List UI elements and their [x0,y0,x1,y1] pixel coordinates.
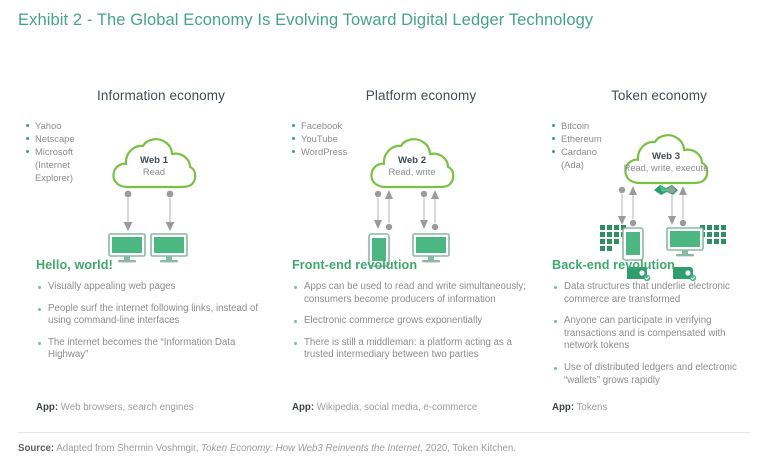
brand-item: Ethereum [550,132,630,145]
brand-item-cont: Explorer) [24,171,104,184]
column-header: Information economy [22,88,270,103]
list-item: Use of distributed ledgers and electroni… [552,362,760,387]
cloud-title: Web 2 [398,154,426,167]
summary-platform-economy: Front-end revolution Apps can be used to… [292,258,540,371]
brand-item: Microsoft [24,145,104,158]
brand-item: YouTube [290,132,370,145]
brand-list: Bitcoin Ethereum Cardano (Ada) [550,119,630,171]
brand-item-cont: (Internet [24,158,104,171]
app-line: App: Tokens [552,402,607,413]
brand-item: Cardano [550,145,630,158]
list-item: Apps can be used to read and write simul… [292,281,540,306]
diagram-information-economy: Yahoo Netscape Microsoft (Internet Explo… [22,115,270,275]
column-platform-economy: Platform economy Facebook YouTube WordPr… [288,88,536,275]
exhibit-page: Exhibit 2 - The Global Economy Is Evolvi… [0,0,768,474]
column-information-economy: Information economy Yahoo Netscape Micro… [22,88,270,275]
column-token-economy: Token economy Bitcoin Ethereum Cardano (… [548,88,760,275]
diagram-platform-economy: Facebook YouTube WordPress Web 2 Read, w… [288,115,536,275]
app-value: Wikipedia, social media, e-commerce [317,402,477,413]
page-title: Exhibit 2 - The Global Economy Is Evolvi… [18,8,718,33]
brand-item: WordPress [290,145,370,158]
section-heading: Hello, world! [36,258,268,272]
list-item: There is still a middleman: a platform a… [292,337,540,362]
source-prefix: Adapted from Shermin Voshmgir, [56,443,198,454]
source-note: Source: Adapted from Shermin Voshmgir, T… [18,443,516,454]
cloud-web2: Web 2 Read, write [366,137,458,193]
point-list: Data structures that underlie electronic… [552,281,760,387]
column-header: Platform economy [288,88,536,103]
app-line: App: Web browsers, search engines [36,402,194,413]
diagram-token-economy: Bitcoin Ethereum Cardano (Ada) Web 3 Rea… [548,115,760,275]
app-value: Web browsers, search engines [61,402,194,413]
list-item: The internet becomes the “Information Da… [36,337,268,362]
list-item: Anyone can participate in verifying tran… [552,315,760,353]
section-heading: Front-end revolution [292,258,540,272]
brand-item: Yahoo [24,119,104,132]
cloud-subtitle: Read, write [388,167,435,179]
cloud-title: Web 3 [652,150,680,163]
source-label: Source: [18,443,54,454]
brand-item: Facebook [290,119,370,132]
cloud-subtitle: Read, write, execute [624,163,709,175]
section-heading: Back-end revolution [552,258,760,272]
cloud-web1: Web 1 Read [108,137,200,193]
flow-arrows-oneway [118,189,198,235]
summary-information-economy: Hello, world! Visually appealing web pag… [36,258,268,371]
app-line: App: Wikipedia, social media, e-commerce [292,402,477,413]
list-item: Visually appealing web pages [36,281,268,294]
app-label: App: [552,402,574,413]
brand-item: Netscape [24,132,104,145]
cloud-subtitle: Read [143,167,165,179]
app-label: App: [36,402,58,413]
summary-token-economy: Back-end revolution Data structures that… [552,258,760,396]
flow-arrows-twoway [372,189,462,235]
device-phone [622,227,644,261]
app-value: Tokens [577,402,608,413]
app-label: App: [292,402,314,413]
blockchain-blocks-icon [700,225,734,255]
device-monitor [666,227,704,257]
column-header: Token economy [548,88,760,103]
point-list: Visually appealing web pages People surf… [36,281,268,362]
list-item: Electronic commerce grows exponentially [292,315,540,328]
brand-item: Bitcoin [550,119,630,132]
source-suffix: , 2020, Token Kitchen. [420,443,516,454]
footer-divider [18,432,750,433]
point-list: Apps can be used to read and write simul… [292,281,540,362]
brand-list: Facebook YouTube WordPress [290,119,370,158]
source-title: Token Economy: How Web3 Reinvents the In… [201,443,420,454]
brand-item-cont: (Ada) [550,158,630,171]
list-item: People surf the internet following links… [36,303,268,328]
list-item: Data structures that underlie electronic… [552,281,760,306]
brand-list: Yahoo Netscape Microsoft (Internet Explo… [24,119,104,184]
cloud-title: Web 1 [140,154,168,167]
